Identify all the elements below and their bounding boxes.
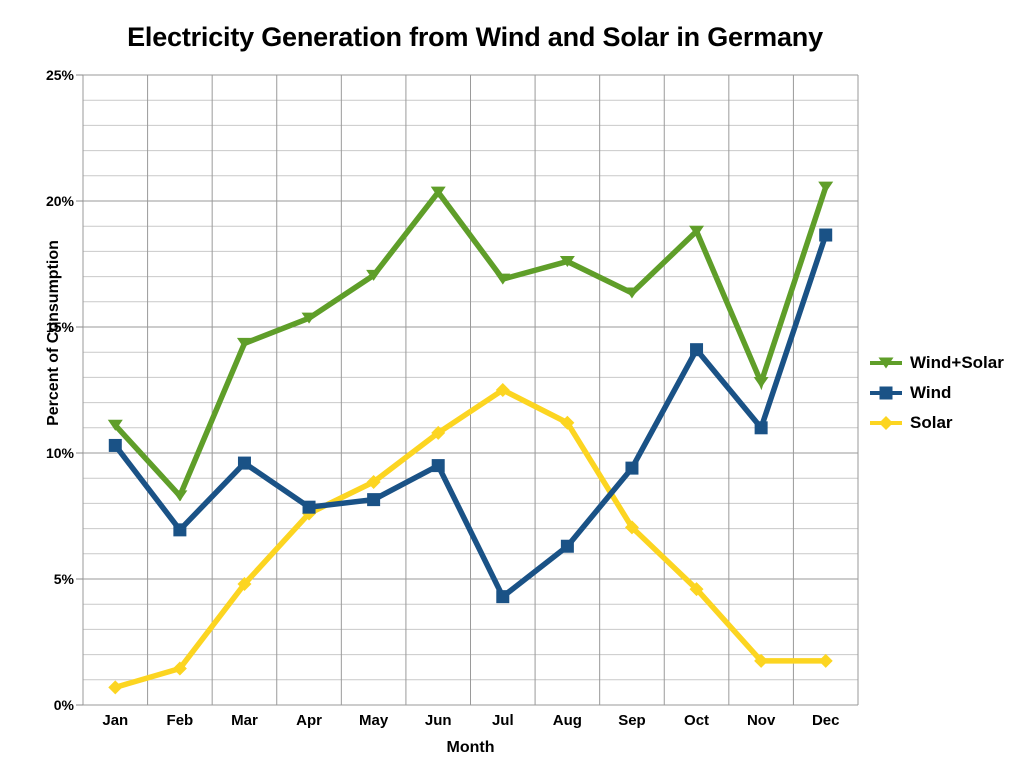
data-point-marker	[879, 416, 893, 430]
legend-item-wind-plus-solar[interactable]: Wind+Solar	[868, 348, 1024, 378]
data-point-marker	[690, 343, 703, 356]
data-point-marker	[755, 421, 768, 434]
data-point-marker	[108, 680, 122, 694]
legend-label: Wind+Solar	[910, 353, 1004, 373]
legend-item-wind[interactable]: Wind	[868, 378, 1024, 408]
data-point-marker	[819, 654, 833, 668]
data-point-marker	[238, 457, 251, 470]
data-point-marker	[625, 462, 638, 475]
legend-label: Wind	[910, 383, 951, 403]
legend-swatch-icon	[868, 353, 904, 373]
data-point-marker	[880, 387, 893, 400]
data-point-marker	[109, 439, 122, 452]
legend-item-solar[interactable]: Solar	[868, 408, 1024, 438]
data-point-marker	[172, 490, 187, 501]
legend-swatch-icon	[868, 413, 904, 433]
data-point-marker	[367, 493, 380, 506]
chart-container: Electricity Generation from Wind and Sol…	[0, 0, 1024, 768]
data-point-marker	[432, 459, 445, 472]
data-point-marker	[173, 523, 186, 536]
data-point-marker	[496, 590, 509, 603]
data-point-marker	[754, 377, 769, 388]
legend-label: Solar	[910, 413, 953, 433]
data-point-marker	[303, 501, 316, 514]
chart-legend: Wind+SolarWindSolar	[868, 348, 1024, 438]
data-point-marker	[818, 182, 833, 193]
data-point-marker	[819, 229, 832, 242]
legend-swatch-icon	[868, 383, 904, 403]
data-point-marker	[561, 540, 574, 553]
